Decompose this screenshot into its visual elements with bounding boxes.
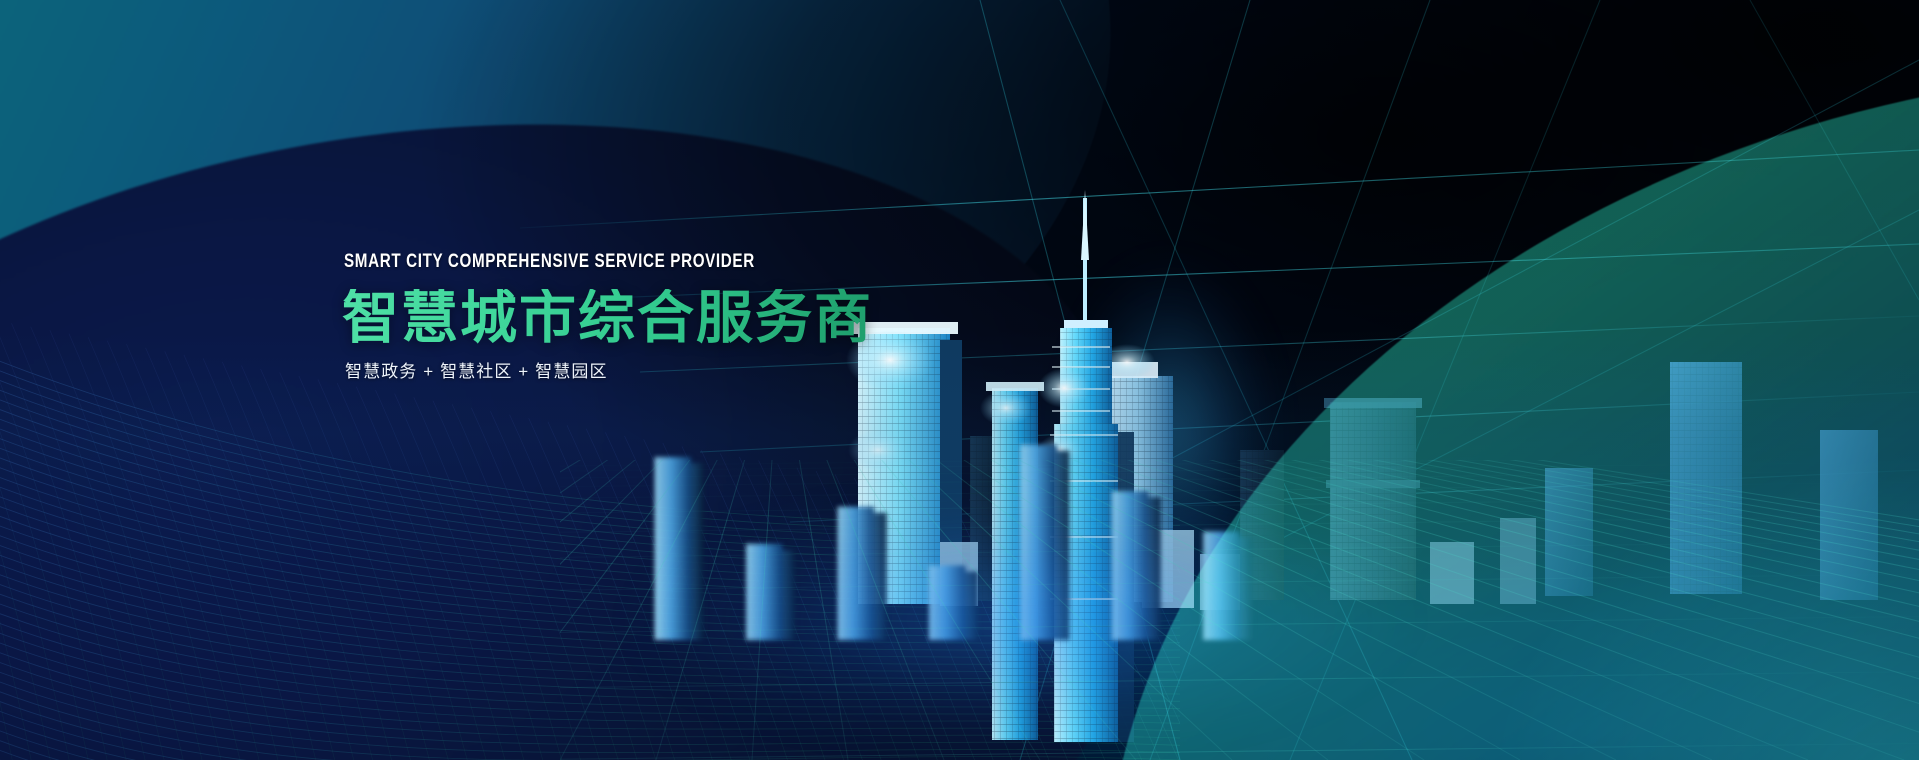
bottom-right-green-glow	[1239, 260, 1919, 760]
eyebrow-tagline: SMART CITY COMPREHENSIVE SERVICE PROVIDE…	[344, 252, 838, 271]
hero-copy-block: SMART CITY COMPREHENSIVE SERVICE PROVIDE…	[342, 252, 962, 380]
subtitle-text: 智慧政务 + 智慧社区 + 智慧园区	[345, 363, 962, 380]
page-title: 智慧城市综合服务商	[342, 289, 962, 347]
smart-city-banner: SMART CITY COMPREHENSIVE SERVICE PROVIDE…	[0, 0, 1919, 760]
